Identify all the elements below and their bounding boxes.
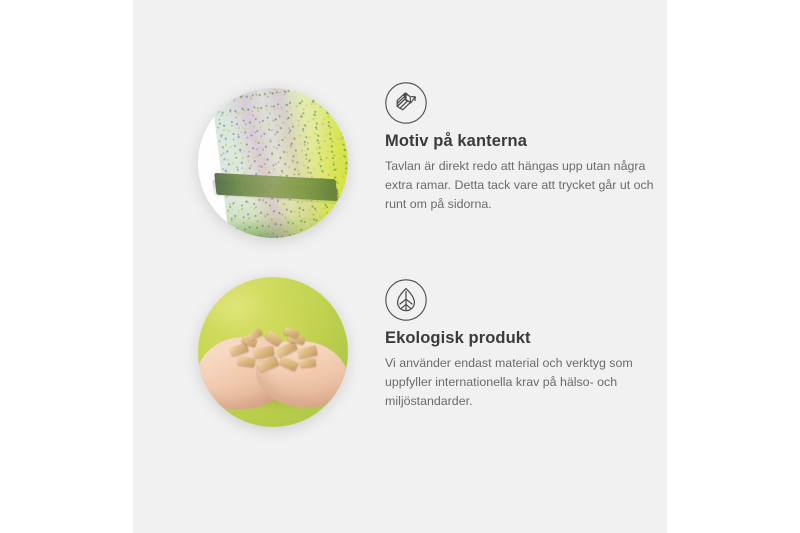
canvas-corner-photo [198,88,348,238]
wood-chip [279,356,299,372]
feature-text-column-1: Motiv på kanterna Tavlan är direkt redo … [385,131,657,214]
wood-chip [257,356,279,372]
wood-chip [283,327,299,338]
wood-chip [265,330,283,347]
content-panel: Motiv på kanterna Tavlan är direkt redo … [133,0,667,533]
canvas-face [211,88,348,238]
feature-title: Ekologisk produkt [385,328,657,349]
wood-chip [237,356,255,367]
hands-group [198,325,348,417]
feature-description: Tavlan är direkt redo att hängas upp uta… [385,157,657,215]
wood-chips-in-hands-photo [198,277,348,427]
wood-chips-pile [228,329,324,381]
wood-chip [297,345,318,359]
wood-chip [229,342,249,356]
canvas-wrapped-edges-icon [385,82,427,124]
feature-title: Motiv på kanterna [385,131,657,152]
feature-description: Vi använder endast material och verktyg … [385,354,657,412]
product-feature-infographic: Motiv på kanterna Tavlan är direkt redo … [0,0,800,533]
wood-chip [300,358,317,367]
canvas-paint-texture [211,88,348,238]
feature-text-column-2: Ekologisk produkt Vi använder endast mat… [385,328,657,411]
leaf-icon [385,279,427,321]
